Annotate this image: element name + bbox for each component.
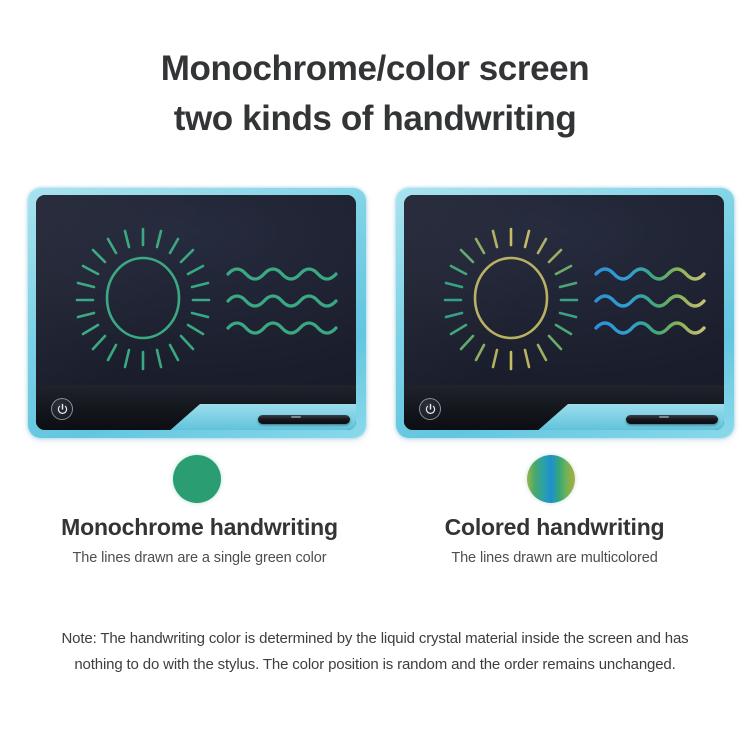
colored-caption-title: Colored handwriting bbox=[367, 514, 742, 541]
stylus[interactable] bbox=[626, 415, 719, 424]
monochrome-swatch bbox=[173, 455, 221, 503]
sun-rays-icon bbox=[77, 229, 209, 369]
monochrome-tablet bbox=[28, 188, 366, 438]
power-icon bbox=[56, 403, 69, 416]
stylus-tray bbox=[538, 404, 724, 430]
wavy-lines-icon bbox=[228, 269, 336, 333]
monochrome-screen bbox=[36, 195, 356, 400]
monochrome-drawing bbox=[36, 195, 356, 400]
colored-drawing bbox=[404, 195, 724, 400]
power-icon bbox=[424, 403, 437, 416]
colored-screen bbox=[404, 195, 724, 400]
sun-circle-icon bbox=[475, 258, 547, 338]
wavy-lines-icon bbox=[596, 269, 704, 333]
footer-note: Note: The handwriting color is determine… bbox=[22, 626, 728, 678]
tablet-chin bbox=[404, 385, 724, 430]
tablet-chin bbox=[36, 385, 356, 430]
page-title-line-2: two kinds of handwriting bbox=[0, 94, 750, 144]
colored-tablet bbox=[396, 188, 734, 438]
colored-caption-subtitle: The lines drawn are multicolored bbox=[367, 550, 742, 566]
footer-note-line-2: nothing to do with the stylus. The color… bbox=[22, 652, 728, 678]
monochrome-caption: Monochrome handwriting The lines drawn a… bbox=[12, 514, 387, 566]
colored-caption: Colored handwriting The lines drawn are … bbox=[367, 514, 742, 566]
footer-note-line-1: Note: The handwriting color is determine… bbox=[22, 626, 728, 652]
sun-rays-icon bbox=[445, 229, 577, 369]
monochrome-caption-subtitle: The lines drawn are a single green color bbox=[12, 550, 387, 566]
caption-row: Monochrome handwriting The lines drawn a… bbox=[0, 514, 750, 584]
device-comparison-row bbox=[0, 188, 750, 440]
tablet-body bbox=[36, 195, 356, 430]
page-title-line-1: Monochrome/color screen bbox=[0, 44, 750, 94]
stylus[interactable] bbox=[258, 415, 351, 424]
power-button[interactable] bbox=[419, 398, 441, 420]
product-feature-page: Monochrome/color screen two kinds of han… bbox=[0, 0, 750, 750]
monochrome-caption-title: Monochrome handwriting bbox=[12, 514, 387, 541]
power-button[interactable] bbox=[51, 398, 73, 420]
multicolor-swatch bbox=[527, 455, 575, 503]
color-swatch-row bbox=[0, 455, 750, 505]
stylus-tray bbox=[170, 404, 356, 430]
page-title: Monochrome/color screen two kinds of han… bbox=[0, 44, 750, 143]
sun-circle-icon bbox=[107, 258, 179, 338]
tablet-body bbox=[404, 195, 724, 430]
